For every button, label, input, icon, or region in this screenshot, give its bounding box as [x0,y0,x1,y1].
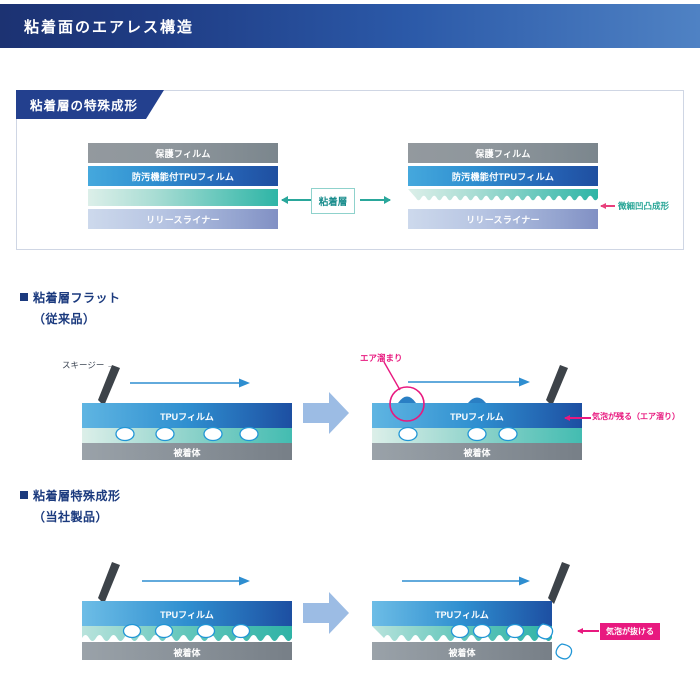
layer-tpu-film: 防汚機能付TPUフィルム [88,166,278,186]
escaping-bubble [556,644,572,659]
motion-arrow-head-icon [519,378,530,387]
air-bubble [499,428,517,441]
arrow-to-right-stack-icon [360,199,390,201]
air-bubble [452,625,469,638]
motion-arrow-head-icon [239,577,250,586]
diagram-formed-before-svg: TPUフィルム 被着体 [82,550,292,660]
layer-tpu-film: 防汚機能付TPUフィルム [408,166,598,186]
motion-arrow-head-icon [239,379,250,388]
diagram-formed-after-svg: TPUフィルム 被着体 [372,550,622,660]
layer-stack-formed: 保護フィルム 防汚機能付TPUフィルム リリースライナー [408,143,598,232]
process-arrow-1 [303,392,349,439]
micro-arrow-icon [601,205,615,207]
layer-adhesive-textured [408,189,598,206]
escaping-bubble [537,624,553,639]
bubbles-remain-arrow-icon [565,417,591,419]
diagram-flat-before-svg: TPUフィルム 被着体 [82,350,292,460]
motion-arrow-head-icon [519,577,530,586]
section-flat-subtitle: （従来品） [20,309,121,330]
block-arrow-icon [303,592,349,634]
surface-bulge [398,397,416,404]
surface-bulge [468,398,486,404]
air-bubble [198,625,215,638]
air-bubble [507,625,524,638]
page-header: 粘着面のエアレス構造 [0,4,700,48]
substrate-label: 被着体 [172,447,201,458]
block-arrow-icon [303,392,349,434]
air-bubble [474,625,491,638]
panel-tab-label: 粘着層の特殊成形 [16,90,164,119]
substrate-label: 被着体 [462,447,491,458]
section-heading-formed: 粘着層特殊成形 （当社製品） [20,486,121,528]
tpu-film-label: TPUフィルム [450,412,504,422]
diagram-formed-before: TPUフィルム 被着体 [82,550,292,660]
arrow-to-left-stack-icon [282,199,312,201]
air-pocket-label: エア溜まり [360,352,403,364]
air-bubble [124,625,141,638]
diagram-flat-after-svg: TPUフィルム 被着体 [372,350,582,460]
air-pocket-leader-line [384,362,400,390]
air-bubble [204,428,222,441]
air-bubble [240,428,258,441]
bubbles-remain-label: 気泡が残る（エア溜り） [592,411,680,422]
section-heading-flat: 粘着層フラット （従来品） [20,288,121,330]
tpu-film-label: TPUフィルム [160,610,214,620]
layer-protective-film: 保護フィルム [408,143,598,163]
squeegee-blade-icon [98,562,120,604]
micro-texture-label: 微細凹凸成形 [618,200,669,212]
squeegee-blade-icon [98,365,120,406]
bullet-square-icon [20,491,28,499]
section-formed-title: 粘着層特殊成形 [33,489,121,503]
bubbles-escape-arrow-icon [578,630,599,632]
adhesive-layer-label: 粘着層 [311,188,355,214]
diagram-flat-after: TPUフィルム 被着体 [372,350,582,460]
process-arrow-2 [303,592,349,639]
bubbles-escape-label: 気泡が抜ける [600,623,660,640]
air-bubble [233,625,250,638]
layer-release-liner: リリースライナー [408,209,598,229]
diagram-formed-after: TPUフィルム 被着体 [372,550,582,660]
layer-release-liner: リリースライナー [88,209,278,229]
squeegee-blade-icon [548,562,570,604]
wavy-adhesive-shape-icon [408,189,598,206]
tpu-film-label: TPUフィルム [160,412,214,422]
air-bubble [116,428,134,441]
adhesive-band [82,428,292,443]
substrate-label: 被着体 [172,647,201,658]
page-title: 粘着面のエアレス構造 [0,16,194,37]
section-flat-title: 粘着層フラット [33,291,121,305]
section-formed-subtitle: （当社製品） [20,507,121,528]
layer-adhesive-flat [88,189,278,206]
textured-adhesive-band [82,626,292,641]
diagram-flat-before: TPUフィルム 被着体 [82,350,292,460]
bullet-square-icon [20,293,28,301]
squeegee-blade-icon [546,365,568,406]
air-bubble [399,428,417,441]
layer-stack-flat: 保護フィルム 防汚機能付TPUフィルム リリースライナー [88,143,278,232]
air-bubble [156,625,173,638]
micro-texture-annotation: 微細凹凸成形 [601,200,669,212]
substrate-label: 被着体 [447,647,476,658]
tpu-film-label: TPUフィルム [435,610,489,620]
layer-protective-film: 保護フィルム [88,143,278,163]
air-bubble [468,428,486,441]
air-bubble [156,428,174,441]
